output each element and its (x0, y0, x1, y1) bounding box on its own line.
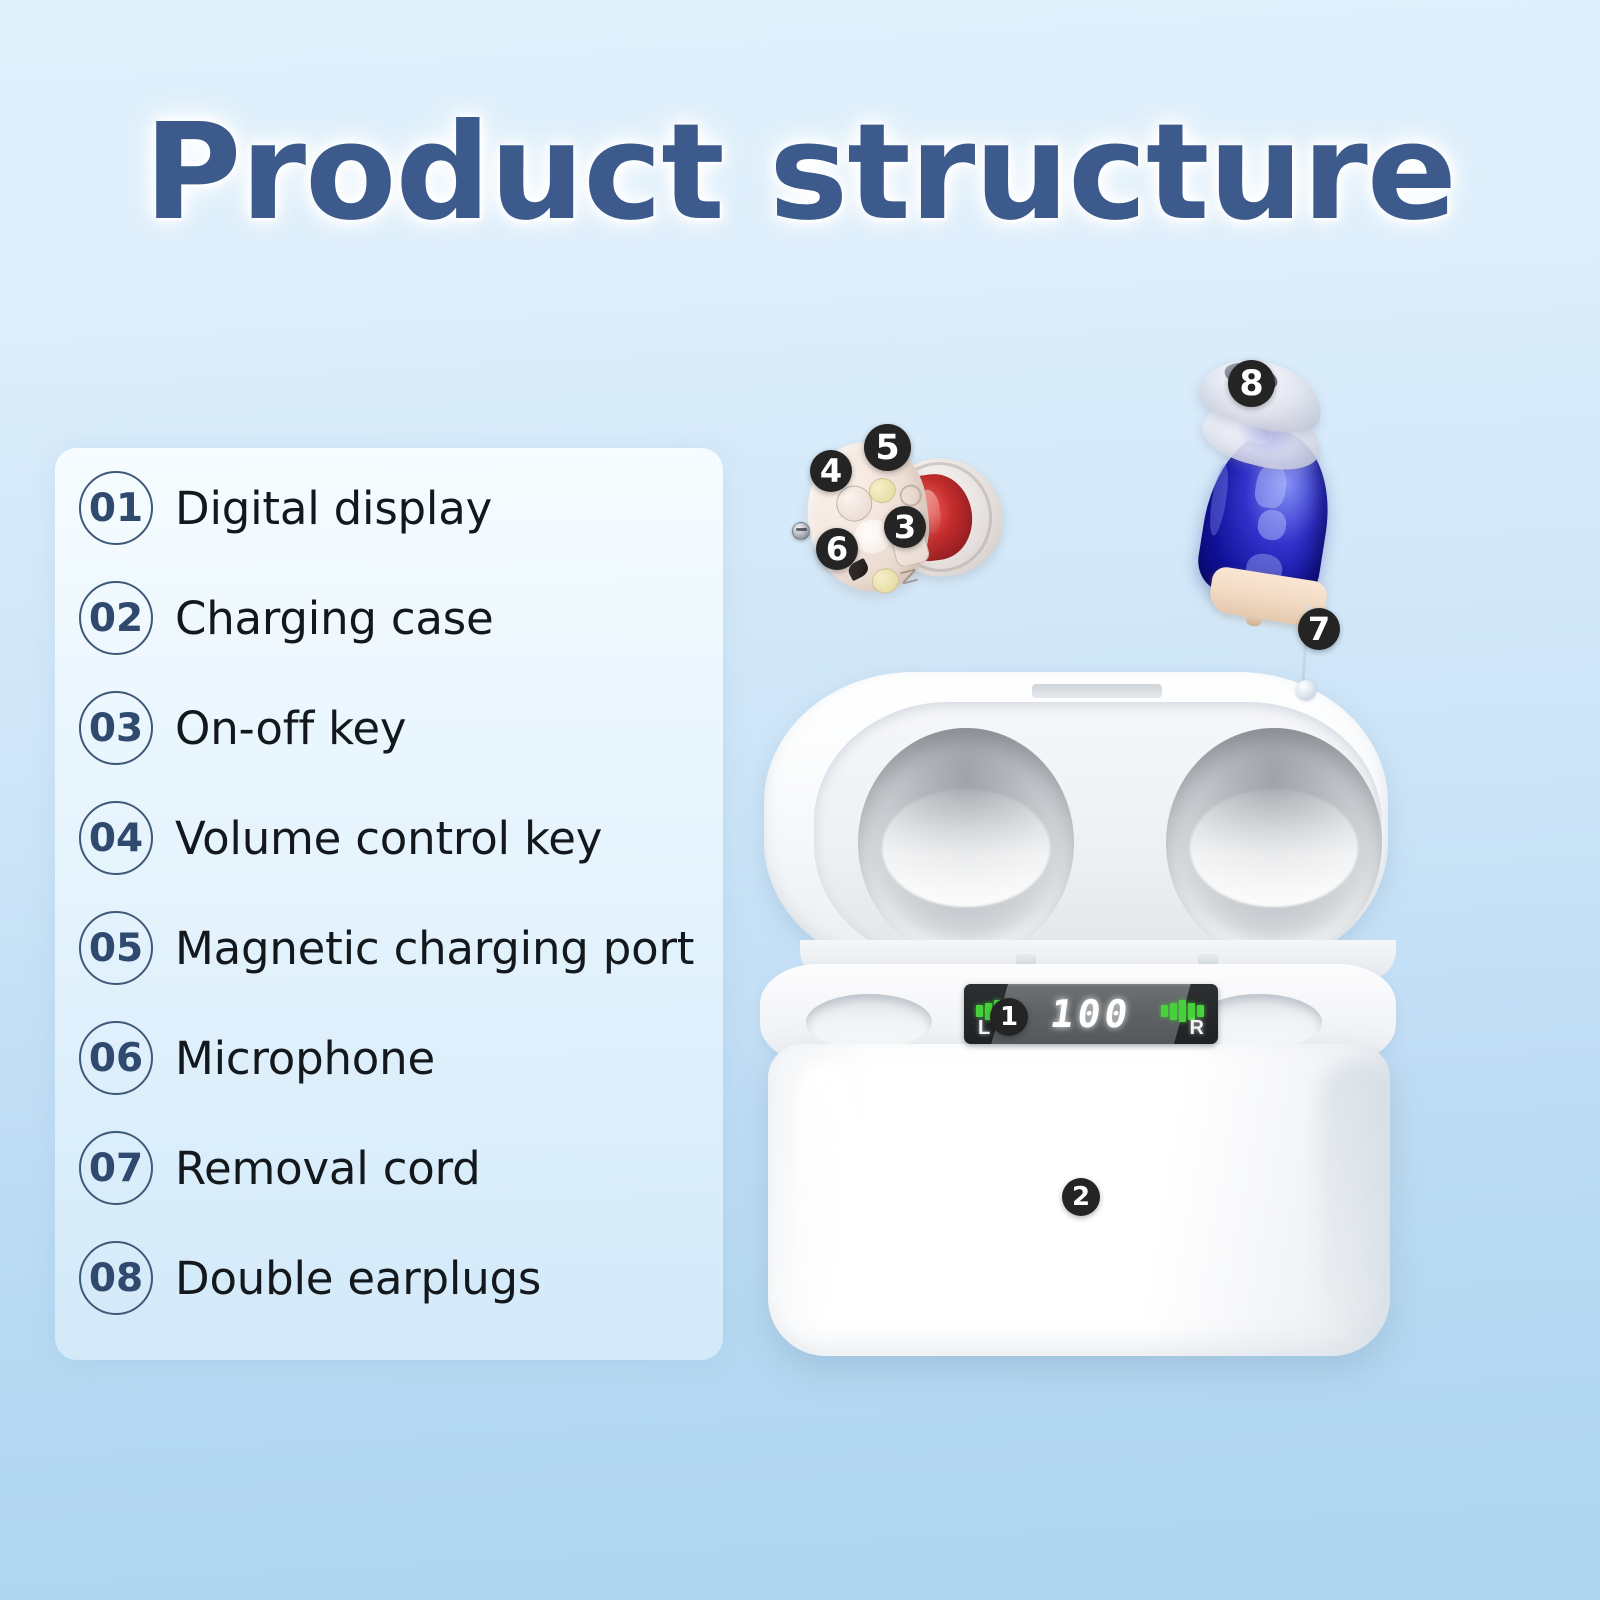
lid-cavity-right-inner (1190, 789, 1358, 907)
legend-item-04: 04 Volume control key (79, 800, 719, 876)
case-body-gloss (796, 1064, 856, 1304)
legend-number-badge-08: 08 (79, 1241, 153, 1315)
legend-label-05: Magnetic charging port (175, 922, 694, 975)
callout-badge-3: 3 (884, 506, 926, 548)
legend-label-06: Microphone (175, 1032, 435, 1085)
callout-badge-6: 6 (816, 528, 858, 570)
callout-badge-4: 4 (810, 450, 852, 492)
legend-item-07: 07 Removal cord (79, 1130, 719, 1206)
legend-number-badge-07: 07 (79, 1131, 153, 1205)
legend-label-08: Double earplugs (175, 1252, 541, 1305)
legend-item-06: 06 Microphone (79, 1020, 719, 1096)
battery-percentage-value: 100 (1048, 992, 1135, 1036)
legend-number-badge-02: 02 (79, 581, 153, 655)
battery-bar (1179, 1000, 1186, 1022)
legend-label-03: On-off key (175, 702, 406, 755)
lid-cavity-left-inner (882, 789, 1050, 907)
legend-item-02: 02 Charging case (79, 580, 719, 656)
battery-bar (1161, 1005, 1168, 1017)
legend-number-badge-03: 03 (79, 691, 153, 765)
legend-label-02: Charging case (175, 592, 494, 645)
charging-case-lid (764, 672, 1388, 972)
display-left-label: L (978, 1017, 990, 1040)
battery-bar (1170, 1003, 1177, 1020)
legend-item-01: 01 Digital display (79, 470, 719, 546)
blue-earpiece-image: 8 7 (1158, 352, 1368, 672)
callout-badge-5: 5 (864, 424, 911, 471)
legend-number-badge-04: 04 (79, 801, 153, 875)
legend-label-01: Digital display (175, 482, 492, 535)
earpiece-slot-left (806, 994, 932, 1050)
legend-number-badge-05: 05 (79, 911, 153, 985)
charging-case-image: L 100 R 1 2 (742, 668, 1422, 1378)
lid-cavity-left (858, 728, 1074, 958)
legend-label-04: Volume control key (175, 812, 602, 865)
case-body-shading (1320, 1060, 1394, 1322)
battery-bar (1197, 1005, 1204, 1017)
removal-cord-bead (1296, 680, 1316, 700)
page-title: Product structure (0, 96, 1600, 250)
microphone-bead-icon (792, 522, 810, 540)
lid-notch (1032, 684, 1162, 698)
legend-item-08: 08 Double earplugs (79, 1240, 719, 1316)
callout-badge-7: 7 (1298, 608, 1340, 650)
legend-item-05: 05 Magnetic charging port (79, 910, 719, 986)
callout-badge-1: 1 (990, 998, 1028, 1036)
display-right-label: R (1190, 1017, 1204, 1040)
lid-cavity-right (1166, 728, 1382, 958)
legend-label-07: Removal cord (175, 1142, 480, 1195)
legend-number-badge-06: 06 (79, 1021, 153, 1095)
microphone-slit (796, 528, 807, 531)
legend-item-03: 03 On-off key (79, 690, 719, 766)
legend-panel: 01 Digital display 02 Charging case 03 O… (55, 448, 723, 1360)
hearing-aid-device-image: N 4 5 3 6 (788, 428, 1008, 608)
legend-number-badge-01: 01 (79, 471, 153, 545)
earpiece-base-contact (1245, 613, 1263, 627)
battery-bar (976, 1005, 983, 1017)
callout-badge-8: 8 (1228, 360, 1275, 407)
faceplate-circle-mark (898, 483, 923, 508)
callout-badge-2: 2 (1062, 1178, 1100, 1216)
nfc-marking: N (895, 566, 924, 588)
